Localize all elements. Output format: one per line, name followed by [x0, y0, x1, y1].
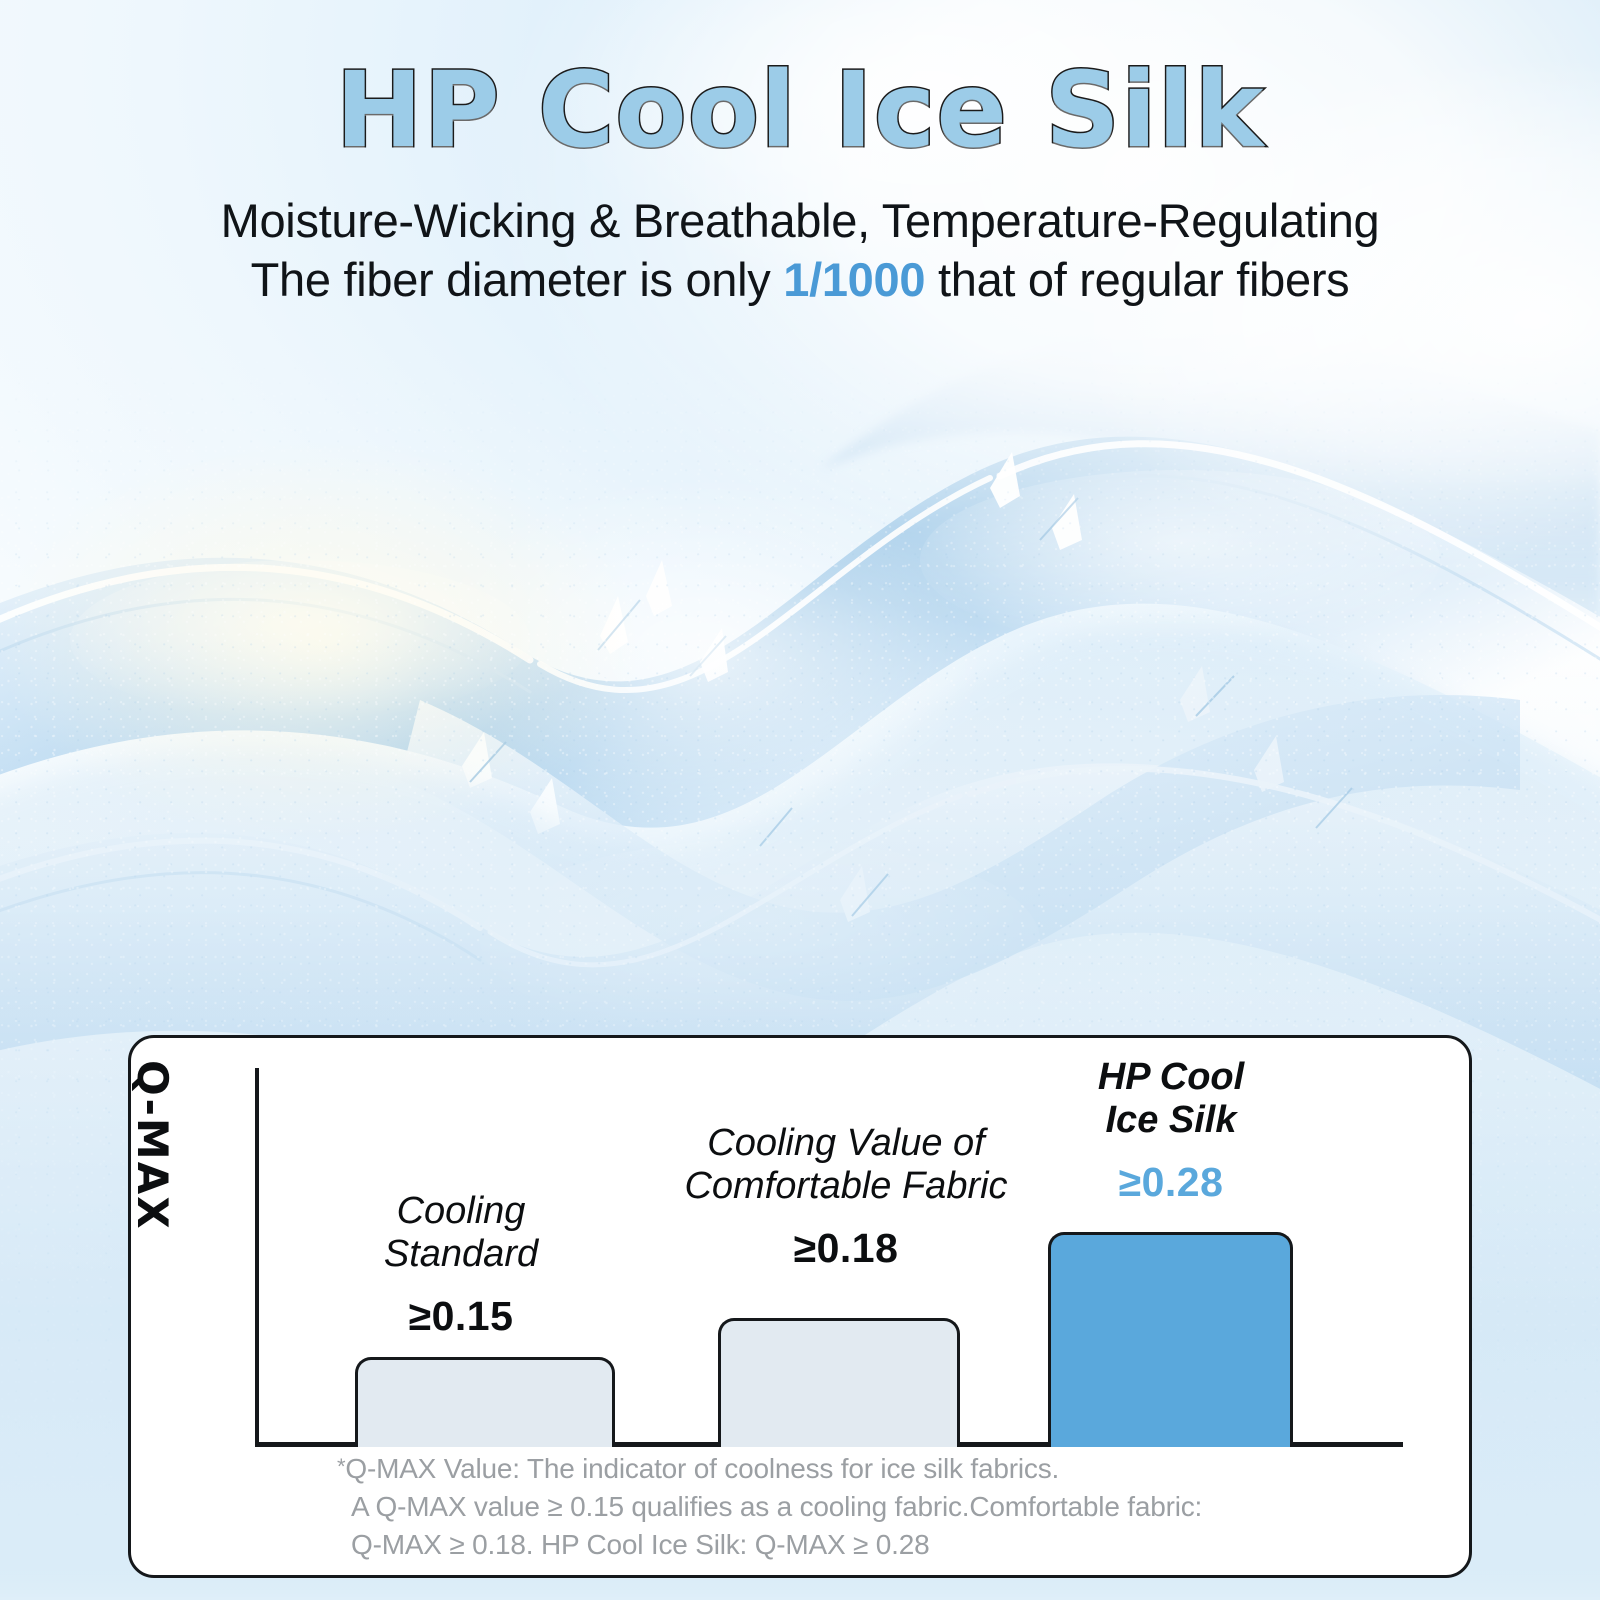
chart-y-axis-label: Q-MAX [133, 1060, 177, 1260]
footnote-line-3: Q-MAX ≥ 0.18. HP Cool Ice Silk: Q-MAX ≥ … [337, 1526, 1427, 1564]
header-block: HP Cool Ice Silk Moisture-Wicking & Brea… [0, 0, 1600, 310]
bar-label-group-2: HP Cool Ice Silk ≥0.28 [1046, 1056, 1296, 1205]
bar-caption-1-line-0: Cooling Value of [656, 1122, 1036, 1165]
bar-caption-2-line-1: Ice Silk [1046, 1099, 1296, 1142]
bar-chart: Q-MAX Cooling Standard ≥0.15 Cooling Val… [131, 1038, 1469, 1575]
bar-caption-2-line-0: HP Cool [1046, 1056, 1296, 1099]
chart-y-axis-line [255, 1068, 259, 1446]
bar-caption-1-line-1: Comfortable Fabric [656, 1165, 1036, 1208]
chart-footnote: *Q-MAX Value: The indicator of coolness … [337, 1450, 1427, 1564]
bar-caption-0-line-0: Cooling [331, 1190, 591, 1233]
bar-2-hp-cool-ice-silk [1048, 1232, 1293, 1447]
subtitle-line-1: Moisture-Wicking & Breathable, Temperatu… [0, 191, 1600, 250]
bar-label-group-1: Cooling Value of Comfortable Fabric ≥0.1… [656, 1122, 1036, 1271]
qmax-comparison-card: Q-MAX Cooling Standard ≥0.15 Cooling Val… [128, 1035, 1472, 1578]
infographic-page: HP Cool Ice Silk Moisture-Wicking & Brea… [0, 0, 1600, 1600]
footnote-text-1: Q-MAX Value: The indicator of coolness f… [345, 1453, 1059, 1484]
bar-0-cooling-standard [355, 1357, 615, 1447]
footnote-line-1: *Q-MAX Value: The indicator of coolness … [337, 1450, 1427, 1488]
fiber-ratio-highlight: 1/1000 [783, 253, 925, 306]
subtitle-block: Moisture-Wicking & Breathable, Temperatu… [0, 191, 1600, 309]
subtitle-line-2-prefix: The fiber diameter is only [251, 253, 784, 306]
subtitle-line-2-suffix: that of regular fibers [925, 253, 1349, 306]
bar-value-2: ≥0.28 [1046, 1159, 1296, 1206]
page-title: HP Cool Ice Silk [0, 0, 1600, 165]
bar-label-group-0: Cooling Standard ≥0.15 [331, 1190, 591, 1339]
footnote-line-2: A Q-MAX value ≥ 0.15 qualifies as a cool… [337, 1488, 1427, 1526]
bar-1-comfortable-fabric [718, 1318, 960, 1447]
bar-value-0: ≥0.15 [331, 1293, 591, 1340]
subtitle-line-2: The fiber diameter is only 1/1000 that o… [0, 250, 1600, 309]
bar-value-1: ≥0.18 [656, 1225, 1036, 1272]
bar-caption-0-line-1: Standard [331, 1233, 591, 1276]
